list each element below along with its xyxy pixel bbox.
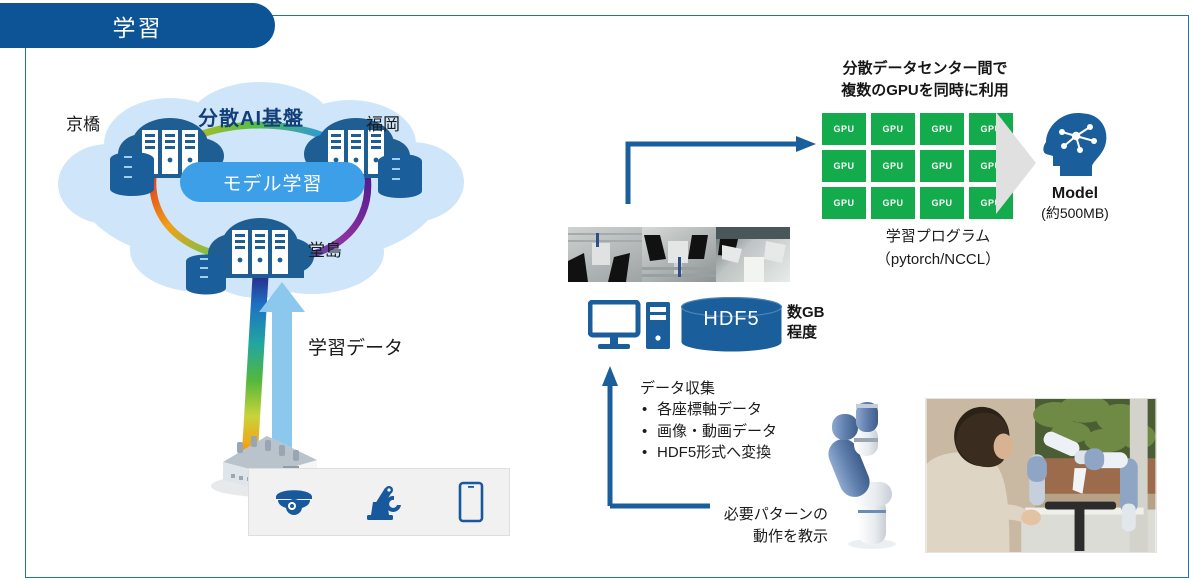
dataset-size-label: 数GB 程度: [787, 303, 825, 344]
data-collection-bullet: HDF5形式へ変換: [657, 442, 777, 463]
data-to-gpu-arrow: [624, 136, 820, 206]
data-collection-bullet: 各座標軸データ: [657, 399, 777, 420]
gpu-cell: GPU: [871, 187, 915, 219]
model-head-icon: [1040, 112, 1110, 178]
training-data-label: 学習データ: [308, 333, 403, 360]
node-dojima-servers-icon: [182, 208, 322, 302]
robot-teaching-photo: [925, 398, 1157, 553]
node-dojima: [182, 208, 322, 307]
model-name-label: Model: [1037, 185, 1113, 203]
training-program-line1: 学習プログラム: [838, 226, 1038, 249]
training-program-line2: （pytorch/NCCL）: [838, 249, 1038, 272]
platform-label: 分散AI基盤: [198, 102, 304, 131]
robot-arm-icon: [363, 482, 409, 522]
gpu-cell: GPU: [871, 150, 915, 182]
gpu-heading-line2: 複数のGPUを同時に利用: [815, 80, 1035, 102]
model-training-label: モデル学習: [222, 169, 322, 196]
gpu-cell: GPU: [920, 113, 964, 145]
node-fukuoka-label: 福岡: [366, 110, 400, 135]
gpu-cell: GPU: [822, 150, 866, 182]
training-program-label: 学習プログラム （pytorch/NCCL）: [838, 226, 1038, 271]
slide-title-tab: 学習: [0, 3, 275, 48]
gpu-to-model-arrow: [996, 112, 1038, 214]
robot-arm-render: [810, 398, 920, 550]
robot-camera-photo-strip: [568, 227, 790, 282]
dome-camera-icon: [273, 482, 315, 522]
data-collection-heading: データ収集: [640, 378, 777, 399]
gpu-cell: GPU: [920, 150, 964, 182]
camera-view-2: [642, 227, 716, 282]
gpu-cell: GPU: [822, 187, 866, 219]
workstation-icon: [588, 300, 674, 354]
camera-view-3: [716, 227, 790, 282]
smartphone-icon: [457, 481, 485, 523]
data-collection-block: データ収集 各座標軸データ画像・動画データHDF5形式へ変換: [640, 378, 777, 463]
node-dojima-label: 堂島: [308, 236, 342, 261]
hdf5-label: HDF5: [680, 308, 783, 331]
data-collection-bullet: 画像・動画データ: [657, 421, 777, 442]
gpu-cell: GPU: [871, 113, 915, 145]
gpu-heading-line1: 分散データセンター間で: [815, 58, 1035, 80]
dataset-size-line1: 数GB: [787, 303, 825, 323]
model-training-pill: モデル学習: [180, 162, 365, 202]
dataset-size-line2: 程度: [787, 323, 825, 343]
model-output-group: Model (約500MB): [1037, 112, 1113, 223]
camera-view-1: [568, 227, 642, 282]
slide-title-text: 学習: [113, 9, 163, 43]
node-kyobashi-label: 京橋: [66, 110, 100, 135]
model-size-label: (約500MB): [1037, 203, 1113, 223]
gpu-grid: GPUGPUGPUGPUGPUGPUGPUGPUGPUGPUGPUGPU: [822, 113, 1013, 219]
gpu-cluster-heading: 分散データセンター間で 複数のGPUを同時に利用: [815, 58, 1035, 102]
gpu-cell: GPU: [920, 187, 964, 219]
edge-devices-box: [248, 468, 510, 536]
data-collection-bullets: 各座標軸データ画像・動画データHDF5形式へ変換: [640, 399, 777, 463]
gpu-cell: GPU: [822, 113, 866, 145]
